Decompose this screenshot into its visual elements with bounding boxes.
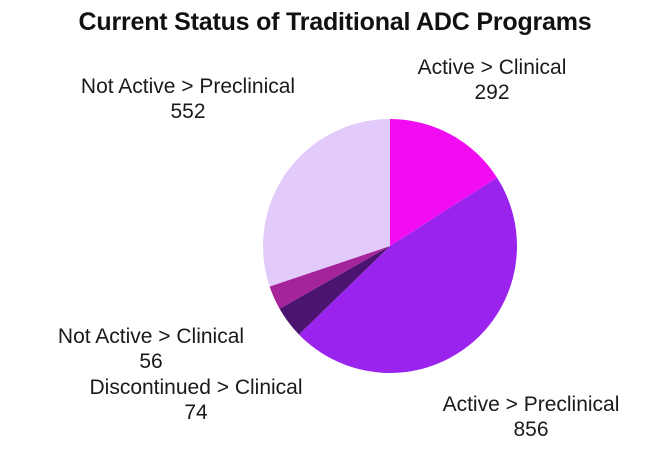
pie-slices (263, 119, 517, 373)
pie-svg (263, 119, 517, 373)
pie-label-active-clinical-name: Active > Clinical (377, 55, 607, 80)
pie-label-not-active-preclinical: Not Active > Preclinical 552 (28, 74, 348, 124)
pie-label-not-active-preclinical-value: 552 (28, 99, 348, 124)
pie-label-not-active-clinical-value: 56 (16, 349, 286, 374)
pie-label-active-clinical: Active > Clinical 292 (377, 55, 607, 105)
pie-label-not-active-preclinical-name: Not Active > Preclinical (28, 74, 348, 99)
page-title: Current Status of Traditional ADC Progra… (0, 8, 670, 37)
pie-label-active-preclinical-name: Active > Preclinical (400, 392, 662, 417)
pie-label-active-preclinical: Active > Preclinical 856 (400, 392, 662, 442)
pie-label-discontinued-clinical-name: Discontinued > Clinical (46, 375, 346, 400)
pie-label-not-active-clinical: Not Active > Clinical 56 (16, 324, 286, 374)
pie-label-active-preclinical-value: 856 (400, 417, 662, 442)
pie-label-active-clinical-value: 292 (377, 80, 607, 105)
pie-chart-figure: Current Status of Traditional ADC Progra… (0, 0, 670, 466)
pie-chart-plot-area (263, 119, 517, 373)
pie-label-discontinued-clinical: Discontinued > Clinical 74 (46, 375, 346, 425)
pie-label-discontinued-clinical-value: 74 (46, 400, 346, 425)
pie-label-not-active-clinical-name: Not Active > Clinical (16, 324, 286, 349)
